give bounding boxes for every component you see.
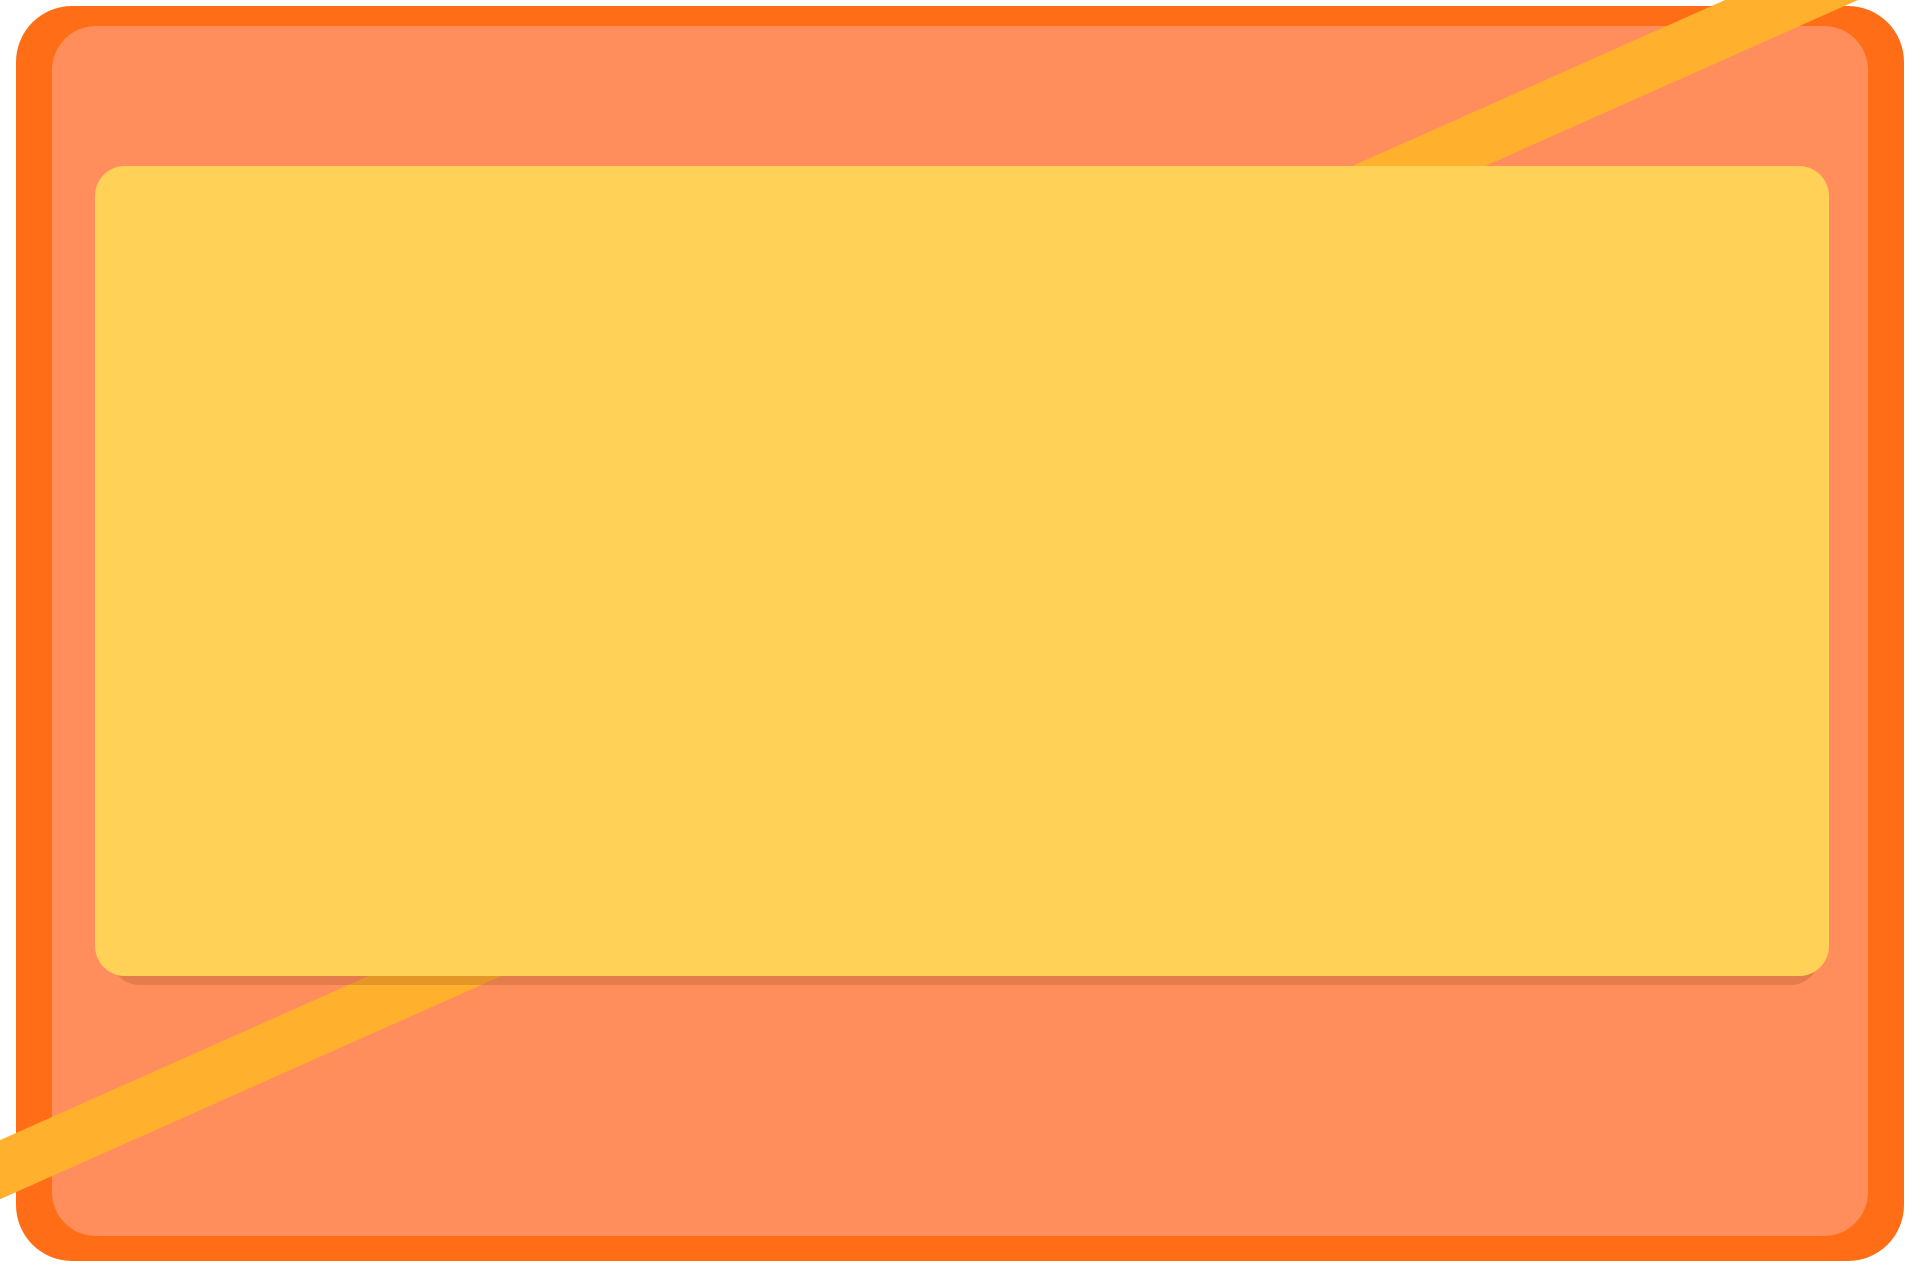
promo-calendar-page — [0, 0, 1920, 1271]
spiral-binding — [125, 174, 1799, 208]
calendar-table — [125, 224, 1799, 934]
notebook-panel — [95, 166, 1829, 976]
